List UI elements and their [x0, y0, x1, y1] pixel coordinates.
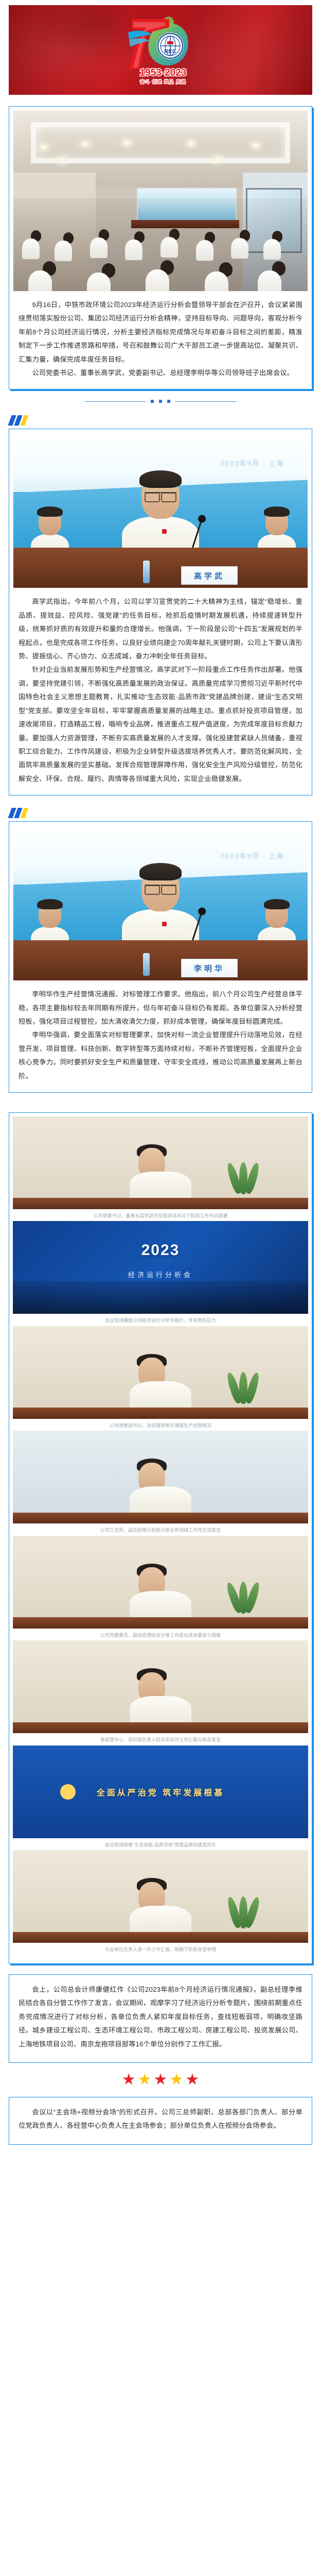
- li-paragraph-2: 李明华强调，要全面落实对标管理要求，加快对标一流企业管理提升行动落地见效，在经营…: [19, 1028, 302, 1083]
- gao-photo-text-card: 2023年9月 · 上海 高学武 高学武指: [9, 429, 312, 795]
- li-text: 李明华作生产经营情况通报、对标管理工作要求。他指出，前八个月公司生产经营总体平稳…: [13, 980, 308, 1092]
- gallery-caption-8: 与会单位负责人逐一作工作汇报，明确下阶段攻坚举措: [13, 1943, 308, 1955]
- gallery-photo-1: [13, 1116, 308, 1209]
- water-bottle: [143, 561, 150, 583]
- lead-paragraph-2: 公司党委书记、董事长高学武，党委副书记、总经理李明华等公司领导班子出席会议。: [19, 366, 302, 380]
- backdrop-title-blur: 2023年9月 · 上海: [221, 458, 284, 468]
- gao-paragraph-1: 高学武指出，今年前八个月，公司以学习宣贯党的二十大精神为主线，锚定“稳增长、重品…: [19, 595, 302, 663]
- gallery-caption-7: 会议现场观看“生态效能·品质市政”党建品牌创建宣传片: [13, 1838, 308, 1851]
- slide-subtitle: 经济运行分析会: [128, 1269, 193, 1279]
- backdrop-title-blur: 2023年9月 · 上海: [221, 851, 284, 860]
- article-page: REC 1953-2023 奋斗 创建 筑品 质路: [0, 5, 321, 2153]
- gallery-photo-8: [13, 1850, 308, 1943]
- gallery-photo-3: [13, 1326, 308, 1419]
- slash-marker-icon: [8, 415, 313, 426]
- potted-plant: [230, 1368, 261, 1404]
- lead-photo-text-card: 9月16日，中铁市政环境公司2023年经济运行分析会暨领导干部会在沪召开，会议紧…: [9, 106, 312, 389]
- closing-text-card-1: 会上，公司总会计师康健红作《公司2023年前8个月经济运行情况通报》，副总经理李…: [9, 1974, 312, 2063]
- dot-divider: [9, 400, 312, 403]
- star-icon-5: ★: [185, 2072, 199, 2088]
- nameplate: 高学武: [181, 566, 238, 585]
- conference-desk: [13, 548, 308, 588]
- glasses-icon: [145, 492, 176, 501]
- anniversary-banner: REC 1953-2023 奋斗 创建 筑品 质路: [9, 5, 312, 95]
- square-icon: [151, 400, 154, 403]
- gallery-caption-1: 公司党委书记、董事长高学武作总结讲话并对下阶段工作作出部署: [13, 1209, 308, 1222]
- water-bottle: [143, 953, 150, 976]
- ceiling-lamp: [213, 157, 222, 162]
- gallery-caption-4: 公司三总师、副总经理分别就分管业务领域工作作交流发言: [13, 1523, 308, 1536]
- star-icon-4: ★: [169, 2072, 183, 2088]
- li-paragraph-1: 李明华作生产经营情况通报、对标管理工作要求。他指出，前八个月公司生产经营总体平稳…: [19, 988, 302, 1028]
- potted-plant: [230, 1578, 261, 1614]
- gallery-caption-3: 公司党委副书记、总经理李明华通报生产经营情况: [13, 1419, 308, 1431]
- nameplate: 李明华: [181, 959, 238, 977]
- closing-paragraph-2: 会议以“主会场+视频分会场”的形式召开。公司三总师副职、总部各部门负责人、部分单…: [19, 2106, 302, 2133]
- slide-year: 2023: [141, 1242, 180, 1259]
- star-icon-3: ★: [154, 2072, 168, 2088]
- closing-paragraph-1: 会上，公司总会计师康健红作《公司2023年前8个月经济运行情况通报》，副总经理李…: [19, 1983, 302, 2051]
- emblem-text: REC: [164, 48, 176, 55]
- gao-paragraph-2: 针对企业当前发展形势和生产经营情况，高学武对下一阶段重点工作任务作出部署。他强调…: [19, 663, 302, 786]
- lead-paragraph-1: 9月16日，中铁市政环境公司2023年经济运行分析会暨领导干部会在沪召开，会议紧…: [19, 298, 302, 366]
- li-photo-text-card: 2023年9月 · 上海 李明华 李明华作: [9, 821, 312, 1093]
- star-divider: ★ ★ ★ ★ ★: [9, 2072, 312, 2088]
- year-range-text: 1953-2023: [140, 67, 187, 78]
- closing-text-card-2: 会议以“主会场+视频分会场”的形式召开。公司三总师副职、总部各部门负责人、部分单…: [9, 2097, 312, 2145]
- gallery-caption-6: 各经营中心、项目部负责人结合实际作工作汇报与表态发言: [13, 1733, 308, 1745]
- hair: [139, 470, 182, 488]
- gallery-card: 公司党委书记、董事长高学武作总结讲话并对下阶段工作作出部署 2023 经济运行分…: [9, 1112, 312, 1964]
- hair: [139, 863, 182, 880]
- gallery-photo-6: [13, 1640, 308, 1733]
- party-badge-icon: [162, 529, 167, 534]
- gao-xuewu-speaking-photo: 2023年9月 · 上海 高学武: [13, 433, 308, 588]
- star-icon-1: ★: [122, 2072, 136, 2088]
- divider-line-right: [175, 401, 236, 402]
- potted-plant: [230, 1892, 261, 1928]
- ceiling-lamp: [58, 158, 66, 163]
- gallery-photo-4: [13, 1431, 308, 1523]
- gallery-photo-5: [13, 1536, 308, 1629]
- ceiling-lamp: [122, 141, 131, 145]
- spacer: [0, 2145, 321, 2153]
- gallery-photo-7: 全面从严治党 筑牢发展根基: [13, 1745, 308, 1838]
- anniversary-logo: REC 1953-2023 奋斗 创建 筑品 质路: [122, 10, 199, 90]
- divider-line-left: [85, 401, 146, 402]
- star-icon-2: ★: [138, 2072, 152, 2088]
- audience-area: [13, 198, 308, 291]
- conference-hall-photo: [13, 111, 308, 291]
- party-emblem-icon: [60, 1784, 76, 1800]
- gao-text: 高学武指出，今年前八个月，公司以学习宣贯党的二十大精神为主线，锚定“稳增长、重品…: [13, 588, 308, 795]
- square-icon: [159, 400, 162, 403]
- gallery-photo-2: 2023 经济运行分析会: [13, 1221, 308, 1314]
- lead-text: 9月16日，中铁市政环境公司2023年经济运行分析会暨领导干部会在沪召开，会议紧…: [13, 291, 308, 389]
- spacer: [13, 1955, 308, 1960]
- party-banner-text: 全面从严治党 筑牢发展根基: [97, 1786, 224, 1798]
- conference-desk: [13, 940, 308, 980]
- square-icon: [167, 400, 170, 403]
- gallery-caption-2: 会议现场播放公司经济运行分析专题片，传导责任压力: [13, 1314, 308, 1326]
- li-minghua-speaking-photo: 2023年9月 · 上海 李明华: [13, 826, 308, 980]
- slogan-text: 奋斗 创建 筑品 质路: [140, 79, 186, 84]
- potted-plant: [230, 1158, 261, 1194]
- slash-marker-icon: [8, 808, 313, 818]
- ceiling-lamp: [81, 142, 90, 146]
- glasses-icon: [145, 885, 176, 893]
- spacer: [0, 1093, 321, 1101]
- gallery-caption-5: 公司党委委员、副总经理结合分管工作提出具体要求与措施: [13, 1629, 308, 1641]
- party-badge-icon: [162, 922, 167, 926]
